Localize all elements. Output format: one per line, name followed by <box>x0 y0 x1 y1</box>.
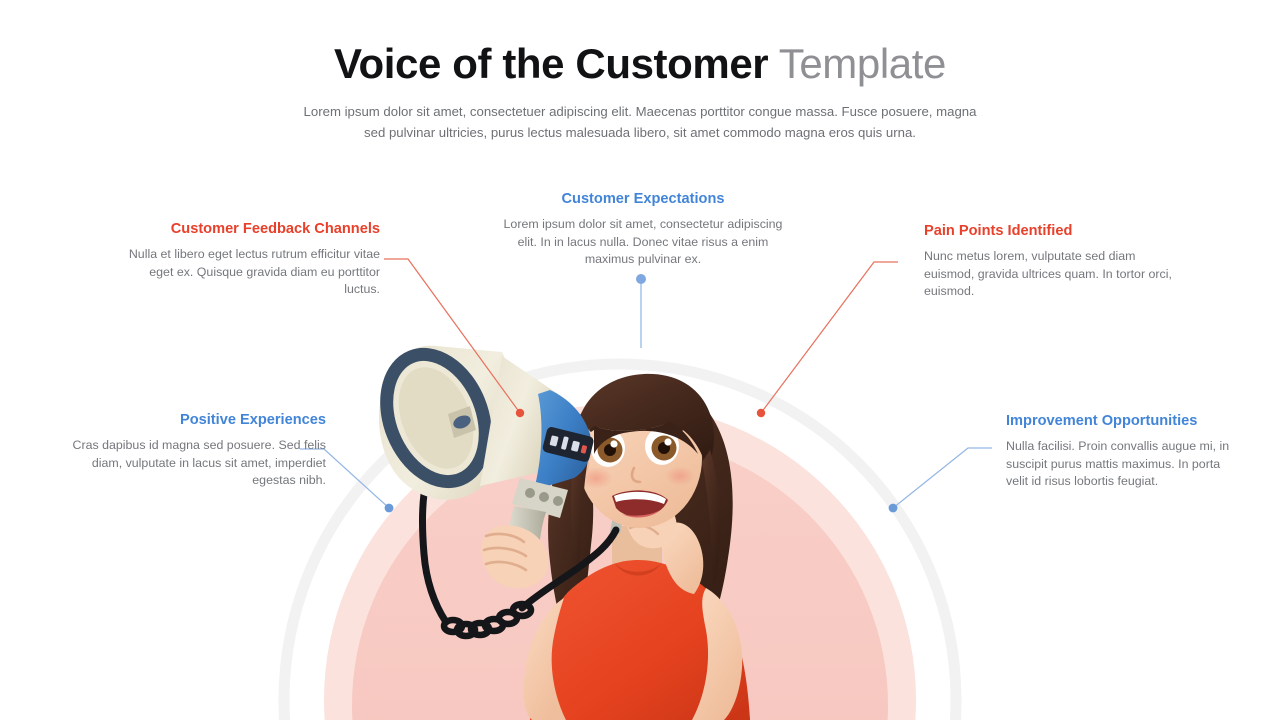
callout-title: Customer Expectations <box>498 190 788 208</box>
callout-title: Customer Feedback Channels <box>120 220 380 238</box>
callout-connectors <box>0 0 1280 720</box>
callout-body: Cras dapibus id magna sed posuere. Sed f… <box>48 437 326 490</box>
callout-customer-feedback-channels[interactable]: Customer Feedback Channels Nulla et libe… <box>120 220 380 299</box>
callout-positive-experiences[interactable]: Positive Experiences Cras dapibus id mag… <box>48 411 326 490</box>
connector-improvement-opportunities <box>889 448 992 512</box>
callout-title: Positive Experiences <box>48 411 326 429</box>
connector-customer-expectations <box>636 274 646 348</box>
callout-title: Improvement Opportunities <box>1006 412 1236 430</box>
connector-pain-points-identified <box>757 262 898 417</box>
callout-body: Nulla et libero eget lectus rutrum effic… <box>120 246 380 299</box>
callout-body: Nunc metus lorem, vulputate sed diam eui… <box>924 248 1176 301</box>
callout-body: Nulla facilisi. Proin convallis augue mi… <box>1006 438 1236 491</box>
callout-title: Pain Points Identified <box>924 222 1176 240</box>
callout-customer-expectations[interactable]: Customer Expectations Lorem ipsum dolor … <box>498 190 788 269</box>
connector-customer-feedback-channels <box>384 259 524 417</box>
callout-pain-points-identified[interactable]: Pain Points Identified Nunc metus lorem,… <box>924 222 1176 301</box>
slide-root: Voice of the Customer Template Lorem ips… <box>0 0 1280 720</box>
callout-improvement-opportunities[interactable]: Improvement Opportunities Nulla facilisi… <box>1006 412 1236 491</box>
callout-body: Lorem ipsum dolor sit amet, consectetur … <box>498 216 788 269</box>
